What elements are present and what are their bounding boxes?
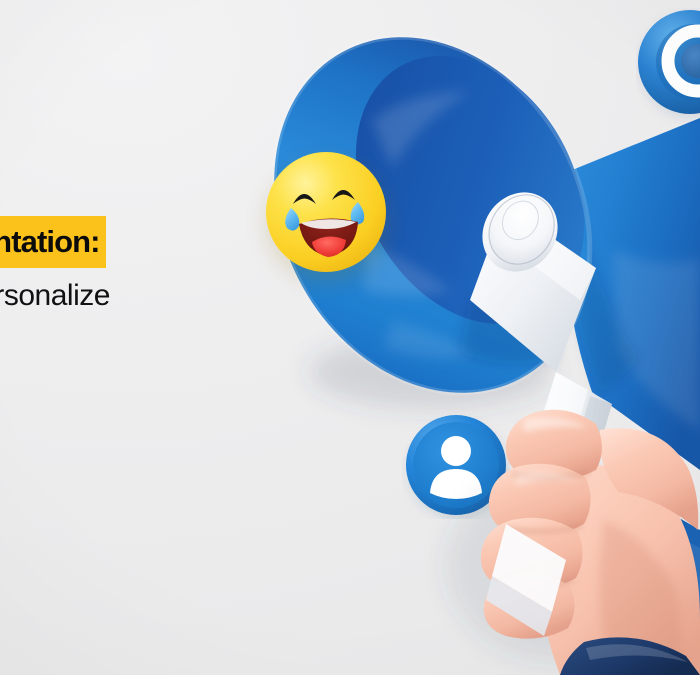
- headline-line-three: mpaigns: [0, 319, 320, 358]
- sleeve-cuff: [560, 637, 700, 675]
- headline-line-two: cs to Personalize: [0, 276, 320, 315]
- emoji-right-eye: [332, 190, 355, 200]
- hand-thumb: [599, 428, 698, 530]
- headline-block: Segmentation: cs to Personalize mpaigns: [0, 222, 320, 358]
- hand-palm: [538, 465, 700, 675]
- user-avatar-badge: [402, 411, 510, 519]
- ring-badge: [636, 8, 700, 124]
- headline-highlight-line: Segmentation:: [0, 222, 320, 262]
- headline-highlight-text: Segmentation:: [0, 216, 106, 268]
- banner-canvas: Segmentation: cs to Personalize mpaigns: [0, 0, 700, 675]
- emoji-left-eye: [293, 194, 316, 204]
